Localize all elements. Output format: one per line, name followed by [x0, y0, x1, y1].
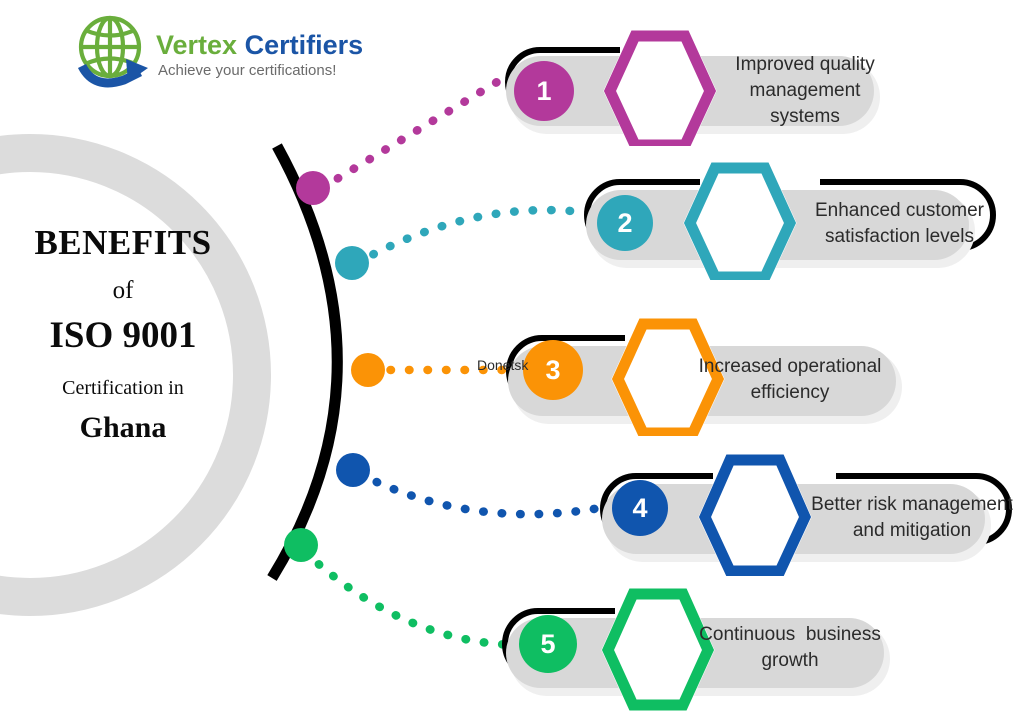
- benefit-text-2: Enhanced customer satisfaction levels: [792, 198, 1007, 250]
- spine-marker-2: [335, 246, 369, 280]
- number-label-5: 5: [518, 631, 578, 658]
- benefit-text-5: Continuous business growth: [670, 622, 910, 674]
- logo-tagline: Achieve your certifications!: [158, 62, 336, 79]
- benefit-row-5[interactable]: 5 Continuous business growth: [480, 586, 910, 726]
- connector-dots-1: [322, 82, 497, 188]
- title-certification-in: Certification in: [8, 377, 238, 399]
- spine-curve: [272, 146, 337, 578]
- spine-marker-3: [351, 353, 385, 387]
- brand-logo: Vertex Certifiers Achieve your certifica…: [68, 14, 358, 94]
- benefit-row-1[interactable]: 1 Improved quality management systems: [480, 18, 900, 146]
- connector-dots-2: [357, 210, 582, 263]
- title-benefits: BENEFITS: [8, 224, 238, 263]
- benefit-text-3: Increased operational efficiency: [670, 354, 910, 406]
- benefit-text-4: Better risk management and mitigation: [800, 492, 1024, 544]
- spine-marker-5: [284, 528, 318, 562]
- benefit-row-3[interactable]: 3 Increased operational efficiency: [480, 308, 910, 436]
- title-of: of: [8, 277, 238, 305]
- page-title-block: BENEFITS of ISO 9001 Certification in Gh…: [8, 224, 238, 444]
- logo-wordmark: Vertex Certifiers: [156, 30, 363, 61]
- spine-marker-4: [336, 453, 370, 487]
- globe-icon: [68, 14, 152, 92]
- logo-word-vertex: Vertex: [156, 30, 237, 60]
- number-label-3: 3: [523, 357, 583, 384]
- number-label-2: 2: [595, 210, 655, 237]
- logo-word-certifiers: Certifiers: [245, 30, 364, 60]
- connector-dots-4: [360, 474, 600, 514]
- benefit-row-2[interactable]: 2 Enhanced customer satisfaction levels: [560, 152, 1024, 280]
- infographic-canvas: Vertex Certifiers Achieve your certifica…: [0, 0, 1024, 726]
- spine-marker-1: [296, 171, 330, 205]
- number-label-1: 1: [514, 78, 574, 105]
- map-artifact-label: Donetsk: [477, 357, 528, 373]
- title-country: Ghana: [8, 411, 238, 444]
- benefit-row-4[interactable]: 4 Better risk management and mitigation: [578, 448, 1024, 576]
- benefit-text-1: Improved quality management systems: [710, 52, 900, 130]
- title-standard: ISO 9001: [8, 316, 238, 357]
- number-label-4: 4: [610, 495, 670, 522]
